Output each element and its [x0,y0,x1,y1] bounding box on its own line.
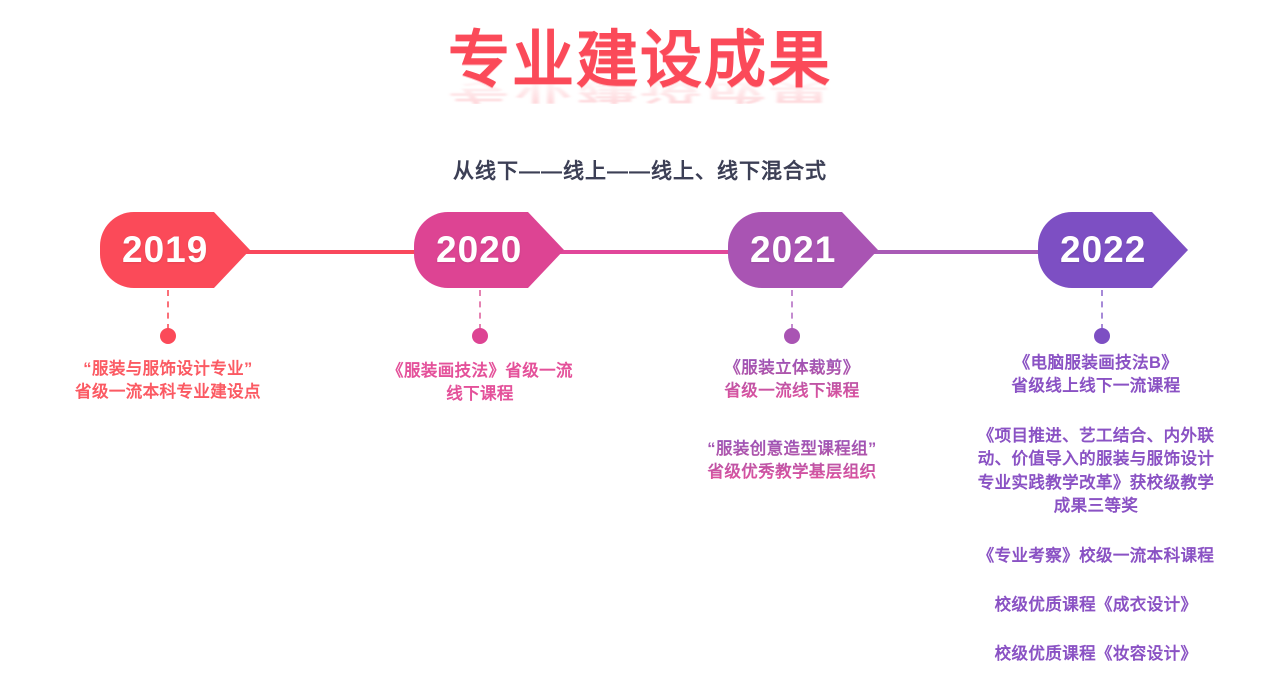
milestone-entry: 校级优质课程《妆容设计》 [946,643,1246,666]
milestone-entry: “服装与服饰设计专业” 省级一流本科专业建设点 [18,358,318,405]
timeline-dot-2020 [472,328,488,344]
page-title: 专业建设成果 [0,28,1280,93]
timeline-badge-label: 2020 [436,229,522,271]
timeline-drop-line-2021 [791,290,793,330]
timeline-badge-label: 2019 [122,229,208,271]
milestone-entry: 《服装立体裁剪》 省级一流线下课程 [642,357,942,404]
milestone-entry: 《项目推进、艺工结合、内外联 动、价值导入的服装与服饰设计 专业实践教学改革》获… [946,425,1246,519]
timeline-badge-label: 2021 [750,229,836,271]
milestone-entry: 《专业考察》校级一流本科课程 [946,545,1246,568]
milestone-column-2021: 《服装立体裁剪》 省级一流线下课程 “服装创意造型课程组” 省级优秀教学基层组织 [642,357,942,485]
milestone-column-2020: 《服装画技法》省级一流 线下课程 [330,360,630,407]
timeline-badge-label: 2022 [1060,229,1146,271]
timeline-dot-2022 [1094,328,1110,344]
timeline: 2019 2020 2021 2022 [0,212,1280,292]
timeline-dot-2019 [160,328,176,344]
page-subtitle: 从线下——线上——线上、线下混合式 [0,155,1280,185]
timeline-badge-2019[interactable]: 2019 [100,212,250,288]
timeline-badge-2021[interactable]: 2021 [728,212,878,288]
milestone-entry: 《电脑服装画技法B》 省级线上线下一流课程 [946,352,1246,399]
timeline-badge-2022[interactable]: 2022 [1038,212,1188,288]
timeline-badge-2020[interactable]: 2020 [414,212,564,288]
timeline-drop-line-2020 [479,290,481,330]
milestone-entry: 校级优质课程《成衣设计》 [946,594,1246,617]
milestone-column-2022: 《电脑服装画技法B》 省级线上线下一流课程 《项目推进、艺工结合、内外联 动、价… [946,352,1246,667]
timeline-drop-line-2019 [167,290,169,330]
timeline-drop-line-2022 [1101,290,1103,330]
milestone-entry: “服装创意造型课程组” 省级优秀教学基层组织 [642,438,942,485]
milestone-column-2019: “服装与服饰设计专业” 省级一流本科专业建设点 [18,358,318,405]
milestone-entry: 《服装画技法》省级一流 线下课程 [330,360,630,407]
timeline-dot-2021 [784,328,800,344]
